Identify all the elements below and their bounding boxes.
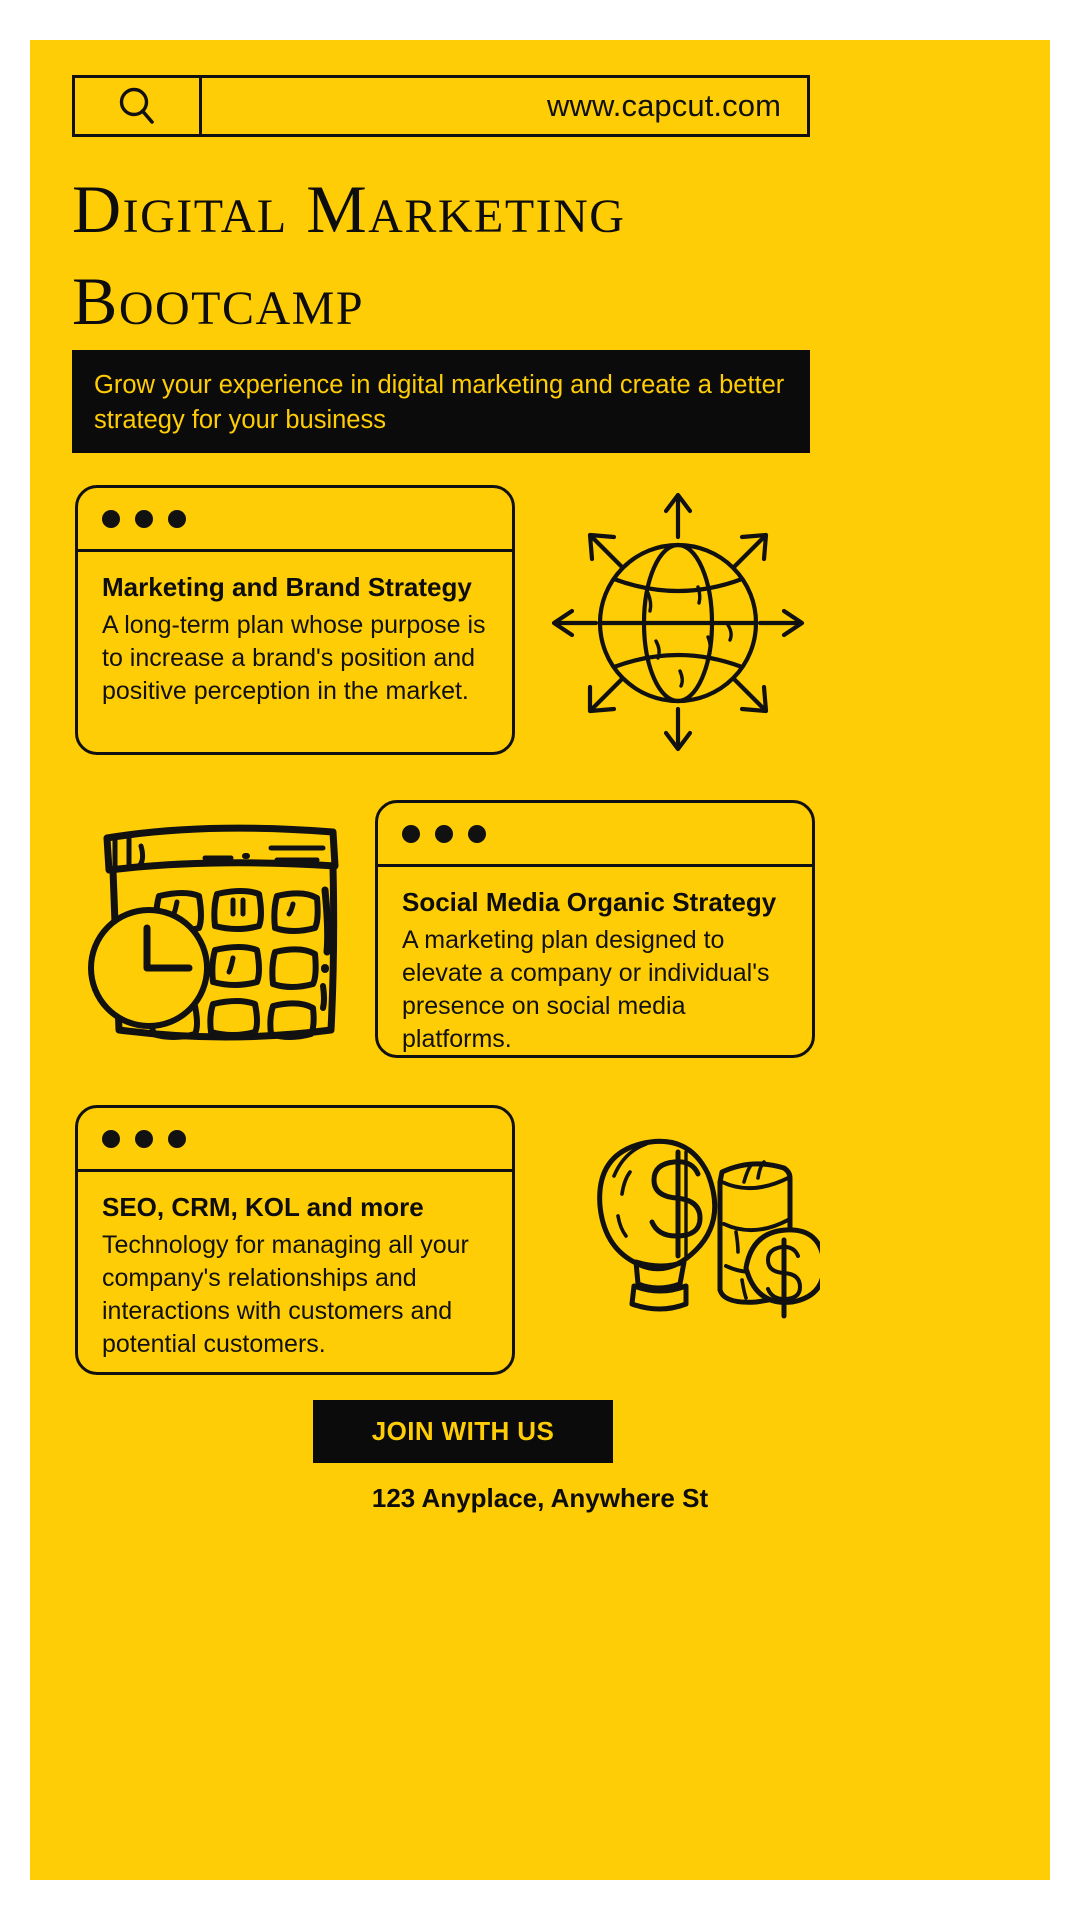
- card-titlebar: [378, 803, 812, 867]
- window-dot-icon: [102, 510, 120, 528]
- search-icon-button[interactable]: [75, 78, 202, 134]
- window-dot-icon: [135, 1130, 153, 1148]
- feature-card-social-media-organic-strategy[interactable]: Social Media Organic Strategy A marketin…: [375, 800, 815, 1058]
- window-dot-icon: [168, 1130, 186, 1148]
- card-titlebar: [78, 488, 512, 552]
- url-text: www.capcut.com: [547, 88, 781, 124]
- feature-card-marketing-and-brand-strategy[interactable]: Marketing and Brand Strategy A long-term…: [75, 485, 515, 755]
- search-icon: [114, 83, 160, 129]
- card-title: Marketing and Brand Strategy: [102, 571, 490, 604]
- money-coins-icon: [530, 1120, 820, 1360]
- window-dot-icon: [135, 510, 153, 528]
- card-body: SEO, CRM, KOL and more Technology for ma…: [78, 1172, 512, 1379]
- window-dot-icon: [102, 1130, 120, 1148]
- feature-card-seo-crm-kol-and-more[interactable]: SEO, CRM, KOL and more Technology for ma…: [75, 1105, 515, 1375]
- card-body: Marketing and Brand Strategy A long-term…: [78, 552, 512, 726]
- subtitle-text: Grow your experience in digital marketin…: [94, 368, 788, 437]
- calendar-with-clock-icon: [85, 800, 355, 1060]
- window-dot-icon: [168, 510, 186, 528]
- globe-with-arrows-icon: [530, 475, 820, 765]
- card-text: A marketing plan designed to elevate a c…: [402, 924, 790, 1056]
- join-with-us-button[interactable]: JOIN WITH US: [313, 1400, 613, 1463]
- url-field[interactable]: www.capcut.com: [202, 78, 807, 134]
- poster-canvas: www.capcut.com Digital Marketing Bootcam…: [30, 40, 1050, 1880]
- card-body: Social Media Organic Strategy A marketin…: [378, 867, 812, 1074]
- card-text: Technology for managing all your company…: [102, 1229, 490, 1361]
- card-title: Social Media Organic Strategy: [402, 886, 790, 919]
- card-text: A long-term plan whose purpose is to inc…: [102, 609, 490, 708]
- window-dot-icon: [402, 825, 420, 843]
- address-text: 123 Anyplace, Anywhere St: [30, 1483, 1050, 1514]
- subtitle-banner: Grow your experience in digital marketin…: [72, 350, 810, 453]
- card-titlebar: [78, 1108, 512, 1172]
- window-dot-icon: [468, 825, 486, 843]
- window-dot-icon: [435, 825, 453, 843]
- cta-label: JOIN WITH US: [372, 1416, 554, 1447]
- search-bar[interactable]: www.capcut.com: [72, 75, 810, 137]
- page-title: Digital Marketing Bootcamp: [72, 163, 832, 348]
- card-title: SEO, CRM, KOL and more: [102, 1191, 490, 1224]
